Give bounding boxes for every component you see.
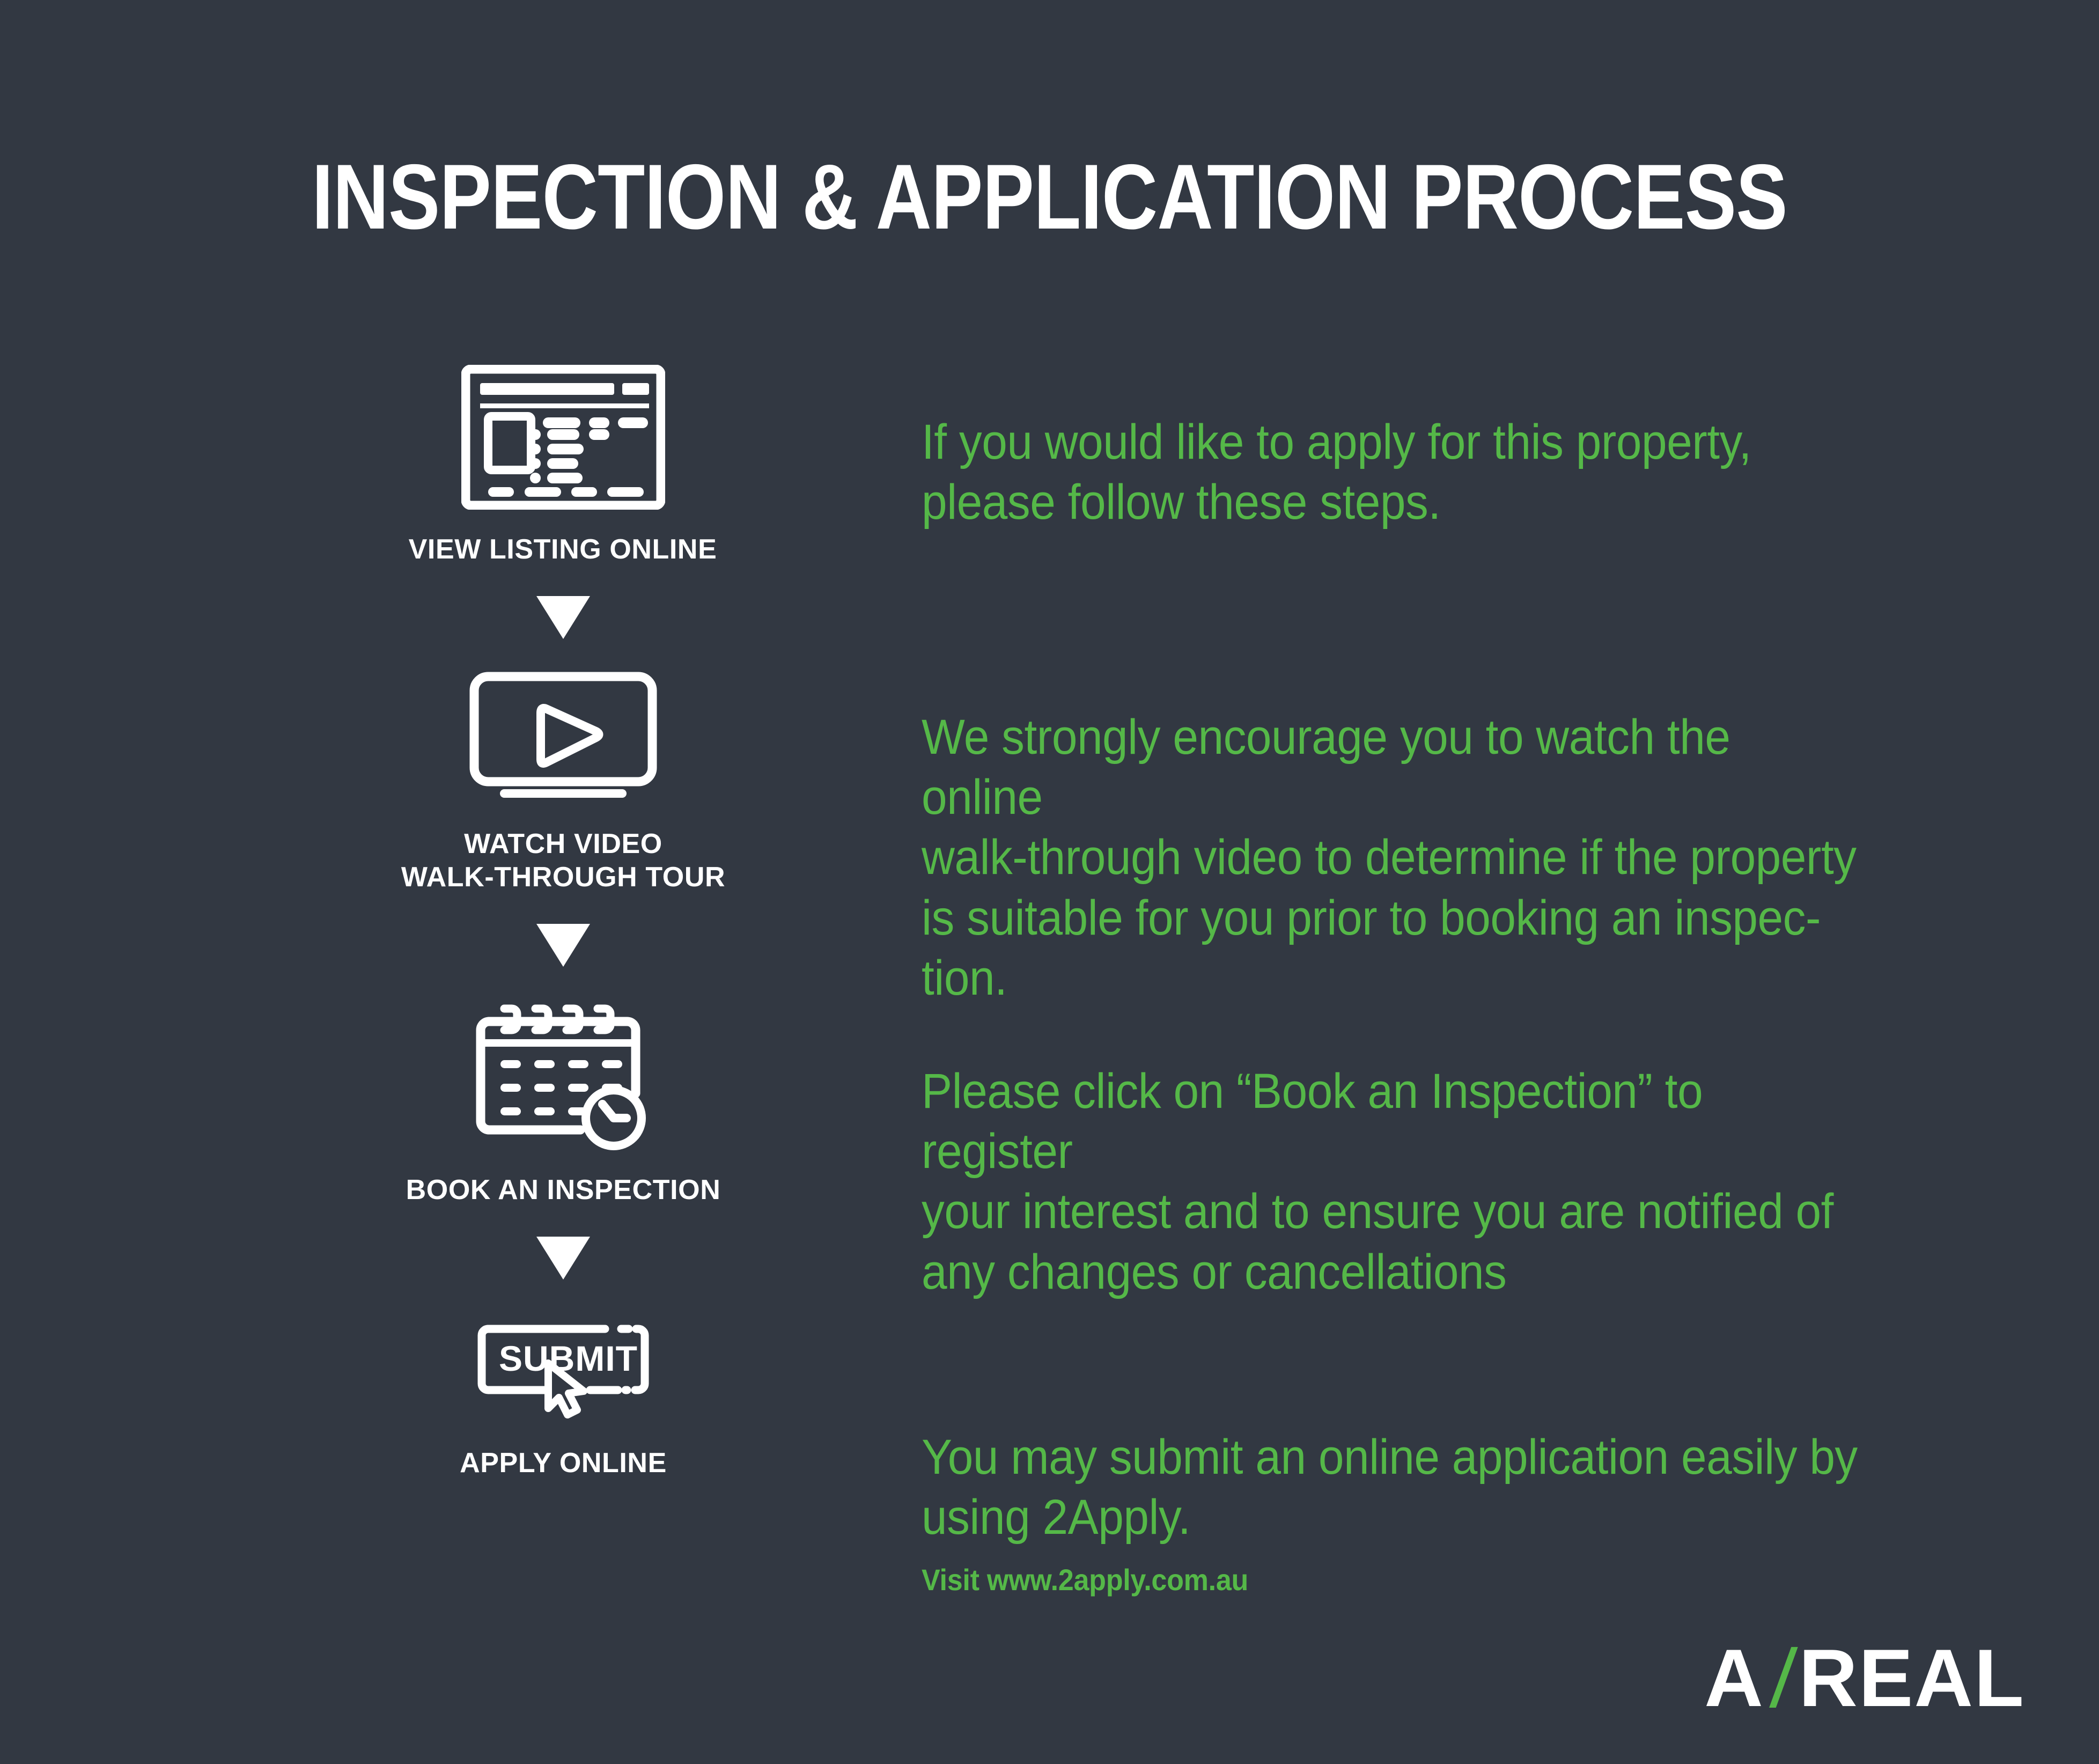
logo-slash-icon: / (1764, 1631, 1802, 1725)
chevron-down-icon (536, 1237, 590, 1280)
logo-text-left: A (1704, 1631, 1764, 1725)
step-label-watch-video: WATCH VIDEO WALK-THROUGH TOUR (343, 828, 783, 894)
chevron-down-icon (536, 596, 590, 639)
flow-arrow-3 (343, 1237, 783, 1280)
flow-arrow-2 (343, 924, 783, 967)
submit-button-cursor-icon: SUBMIT (343, 1310, 783, 1433)
infographic-page: INSPECTION & APPLICATION PROCESS (0, 0, 2099, 1764)
logo-text-right: REAL (1799, 1631, 2025, 1725)
step-view-listing-online: VIEW LISTING ONLINE (343, 365, 783, 566)
description-watch-video: We strongly encourage you to watch the o… (922, 707, 1859, 1008)
video-play-monitor-icon (343, 669, 783, 803)
page-title: INSPECTION & APPLICATION PROCESS (168, 144, 1931, 250)
step-label-apply-online: APPLY ONLINE (343, 1447, 783, 1480)
step-label-book-inspection: BOOK AN INSPECTION (343, 1174, 783, 1207)
description-apply-online: You may submit an online application eas… (922, 1427, 1858, 1547)
step-apply-online: SUBMIT APPLY ONLINE (343, 1310, 783, 1480)
visit-2apply-link[interactable]: Visit www.2apply.com.au (922, 1562, 1248, 1597)
calendar-clock-icon (343, 997, 783, 1152)
flow-arrow-1 (343, 596, 783, 639)
step-watch-video: WATCH VIDEO WALK-THROUGH TOUR (343, 669, 783, 894)
brand-logo: A / REAL (1704, 1631, 2025, 1725)
description-book-inspection: Please click on “Book an Inspection” to … (922, 1061, 1859, 1302)
browser-listing-icon (343, 365, 783, 510)
step-book-inspection: BOOK AN INSPECTION (343, 997, 783, 1207)
description-view-listing: If you would like to apply for this prop… (922, 412, 1751, 532)
chevron-down-icon (536, 924, 590, 967)
step-label-view-listing-online: VIEW LISTING ONLINE (342, 533, 783, 566)
svg-text:SUBMIT: SUBMIT (499, 1339, 638, 1378)
process-flow-column: VIEW LISTING ONLINE WATCH VIDEO WALK-THR… (343, 365, 783, 1480)
